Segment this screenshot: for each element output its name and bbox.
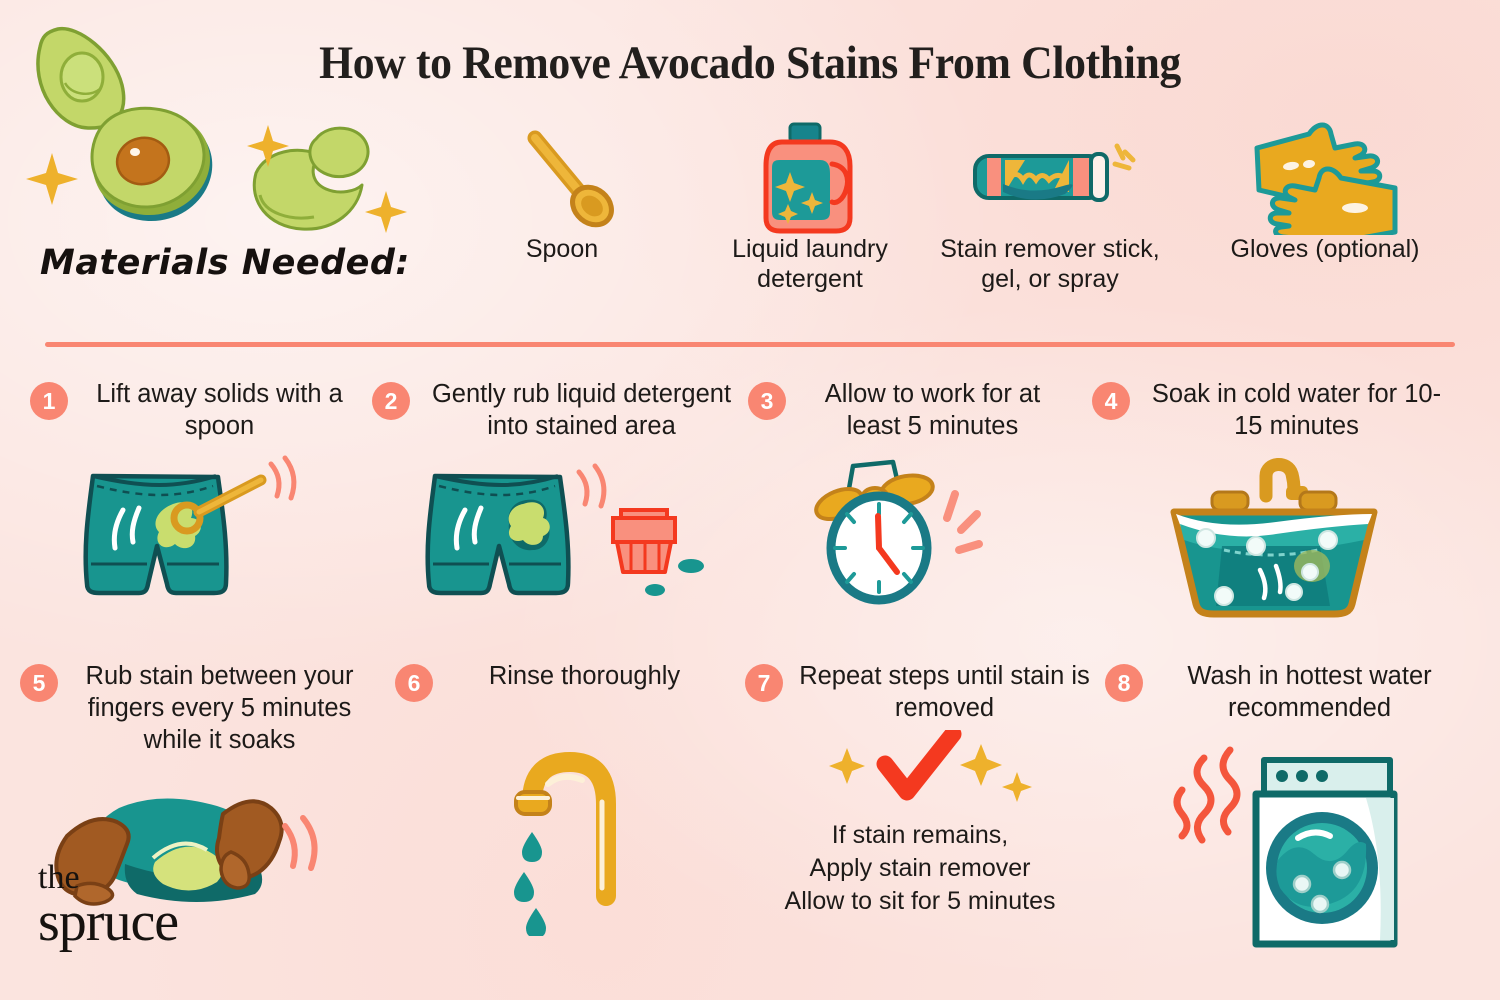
material-caption: Gloves (optional): [1200, 235, 1450, 265]
material-stain-remover: Stain remover stick, gel, or spray: [935, 120, 1165, 294]
material-spoon: Spoon: [462, 120, 662, 265]
step-3-badge: 3: [748, 382, 786, 420]
alarm-clock-icon: [801, 456, 1016, 606]
step-2-header: 2 Gently rub liquid detergent into stain…: [372, 378, 742, 442]
brand-logo-line1: the: [38, 862, 178, 894]
gloves-icon: [1235, 120, 1415, 235]
red-checkmark-icon: [795, 730, 1045, 815]
step-3-art: [748, 456, 1068, 606]
step-6-header: 6 Rinse thoroughly: [395, 660, 725, 702]
step-2-badge: 2: [372, 382, 410, 420]
step-6: 6 Rinse thoroughly: [395, 660, 725, 936]
step-7-text: Repeat steps until stain is removed: [794, 660, 1095, 724]
step-4: 4 Soak in cold water for 10-15 minutes: [1092, 378, 1452, 620]
stain-remover-art: [935, 120, 1165, 235]
spoon-icon: [497, 122, 627, 234]
stain-remover-stick-icon: [963, 130, 1138, 225]
material-caption: Spoon: [462, 235, 662, 265]
steam-icon: [1177, 750, 1237, 840]
step-1-header: 1 Lift away solids with a spoon: [30, 378, 360, 442]
material-gloves: Gloves (optional): [1200, 120, 1450, 265]
step-6-text: Rinse thoroughly: [444, 660, 725, 692]
washing-machine-icon: [1170, 742, 1400, 952]
avocado-half-with-pit-icon: [92, 108, 212, 221]
step-3-header: 3 Allow to work for at least 5 minutes: [748, 378, 1068, 442]
material-caption: Stain remover stick, gel, or spray: [935, 235, 1165, 294]
step-7-badge: 7: [745, 664, 783, 702]
spoon-art: [462, 120, 662, 235]
step-4-badge: 4: [1092, 382, 1130, 420]
step-2-art: [372, 452, 742, 612]
step-5-text: Rub stain between your fingers every 5 m…: [69, 660, 370, 756]
step-3-text: Allow to work for at least 5 minutes: [797, 378, 1068, 442]
section-divider: [45, 342, 1455, 347]
sink-basin-icon: [1152, 450, 1392, 620]
step-1-badge: 1: [30, 382, 68, 420]
step-7-art: [745, 730, 1095, 815]
step-4-header: 4 Soak in cold water for 10-15 minutes: [1092, 378, 1452, 442]
step-3: 3 Allow to work for at least 5 minutes: [748, 378, 1068, 606]
materials-label: Materials Needed:: [40, 243, 410, 283]
step-2: 2 Gently rub liquid detergent into stain…: [372, 378, 742, 612]
avocado-half-icon: [38, 29, 124, 128]
gloves-art: [1200, 120, 1450, 235]
shorts-with-detergent-cap-icon: [407, 452, 707, 612]
faucet-dripping-icon: [460, 736, 660, 936]
material-caption: Liquid laundry detergent: [690, 235, 930, 294]
step-7-header: 7 Repeat steps until stain is removed: [745, 660, 1095, 724]
step-8-badge: 8: [1105, 664, 1143, 702]
step-1-art: [30, 452, 360, 612]
detergent-art: [690, 120, 930, 235]
step-6-art: [395, 736, 725, 936]
material-detergent: Liquid laundry detergent: [690, 120, 930, 294]
step-5-header: 5 Rub stain between your fingers every 5…: [20, 660, 370, 756]
step-8-text: Wash in hottest water recommended: [1154, 660, 1465, 724]
step-8: 8 Wash in hottest water recommended: [1105, 660, 1465, 952]
step-5-badge: 5: [20, 664, 58, 702]
avocado-illustration: [10, 5, 430, 245]
brand-logo: the spruce: [38, 862, 178, 950]
step-4-text: Soak in cold water for 10-15 minutes: [1141, 378, 1452, 442]
brand-logo-line2: spruce: [38, 894, 178, 950]
step-4-art: [1092, 450, 1452, 620]
step-2-text: Gently rub liquid detergent into stained…: [421, 378, 742, 442]
step-6-badge: 6: [395, 664, 433, 702]
step-1-text: Lift away solids with a spoon: [79, 378, 360, 442]
step-7-sub-text: If stain remains, Apply stain remover Al…: [745, 819, 1095, 918]
step-8-art: [1105, 742, 1465, 952]
step-1: 1 Lift away solids with a spoon: [30, 378, 360, 612]
step-8-header: 8 Wash in hottest water recommended: [1105, 660, 1465, 724]
shorts-with-spoon-icon: [65, 452, 325, 612]
step-7: 7 Repeat steps until stain is removed If…: [745, 660, 1095, 918]
detergent-bottle-icon: [754, 120, 866, 235]
